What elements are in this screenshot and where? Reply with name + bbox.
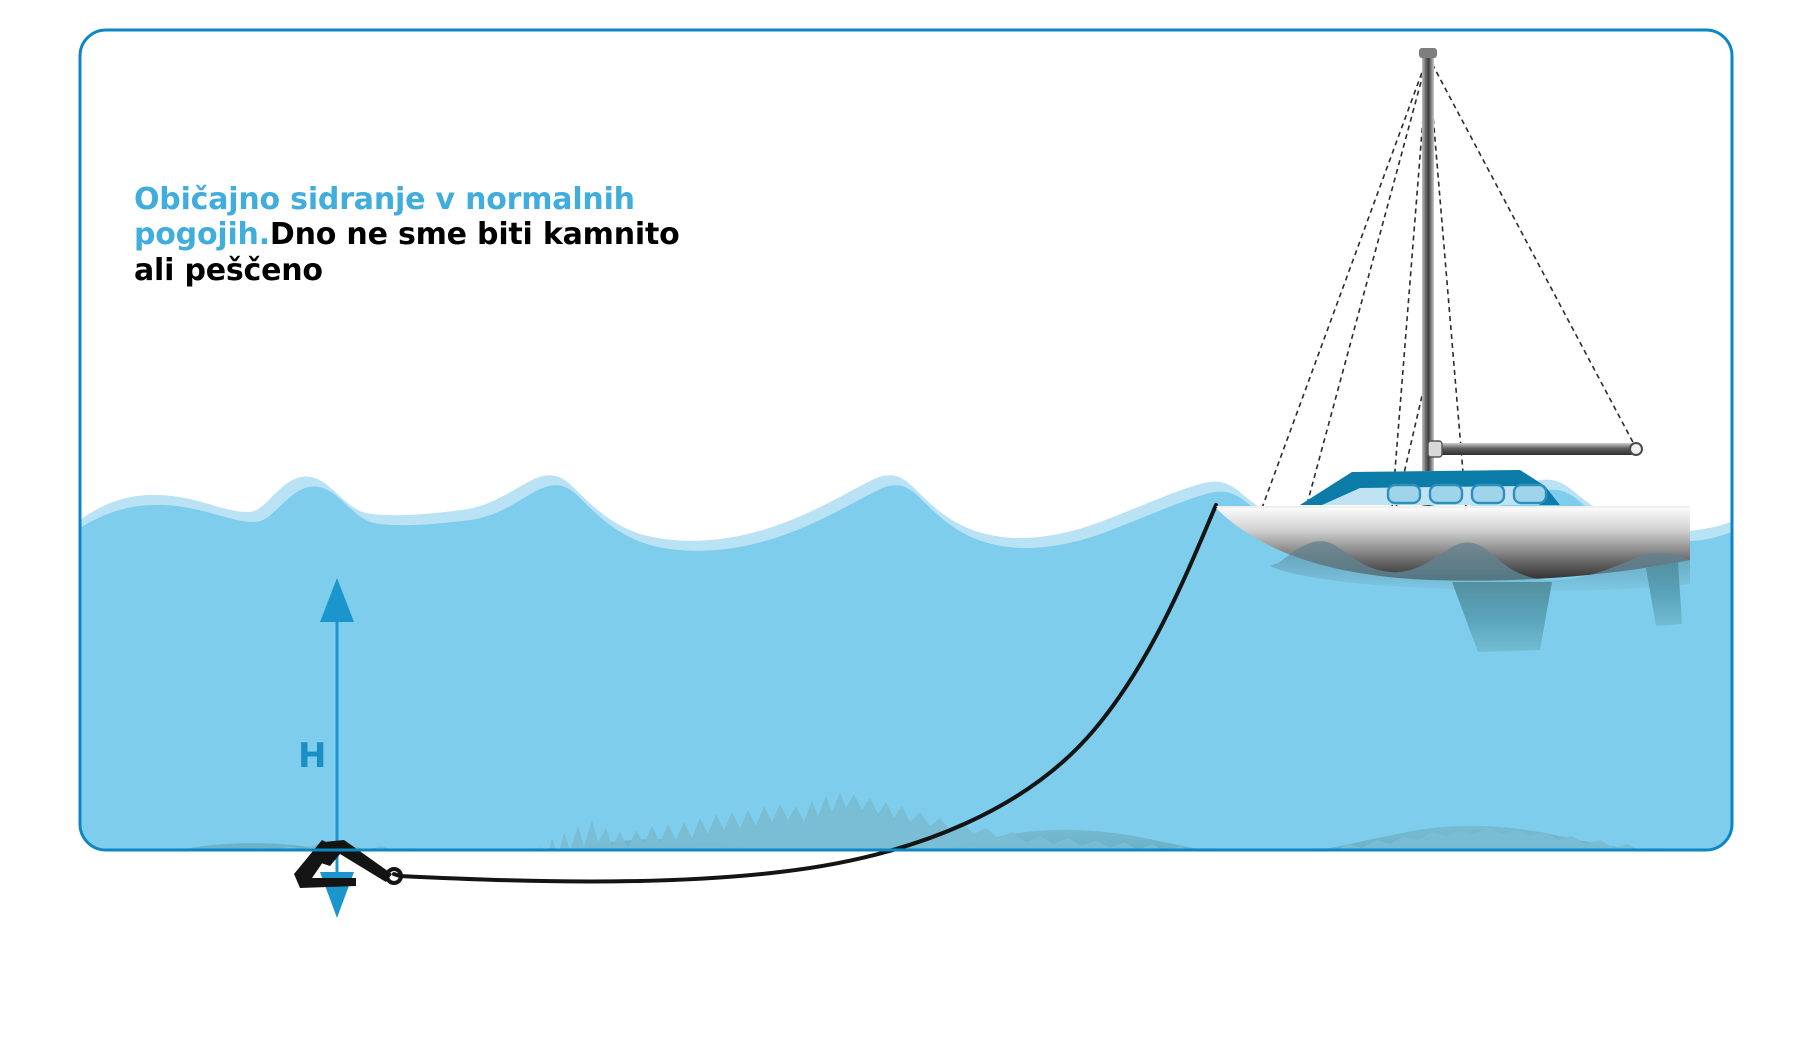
mast-head — [1419, 48, 1437, 58]
porthole-2 — [1430, 485, 1462, 503]
figure-canvas: Običajno sidranje v normalnih pogojih.Dn… — [0, 0, 1812, 1048]
anchoring-diagram — [0, 0, 1812, 1048]
porthole-4 — [1514, 485, 1546, 503]
boom-end-fitting — [1630, 443, 1642, 455]
porthole-1 — [1388, 485, 1420, 503]
gooseneck-fitting — [1428, 441, 1442, 457]
boom — [1434, 443, 1634, 455]
porthole-3 — [1472, 485, 1504, 503]
